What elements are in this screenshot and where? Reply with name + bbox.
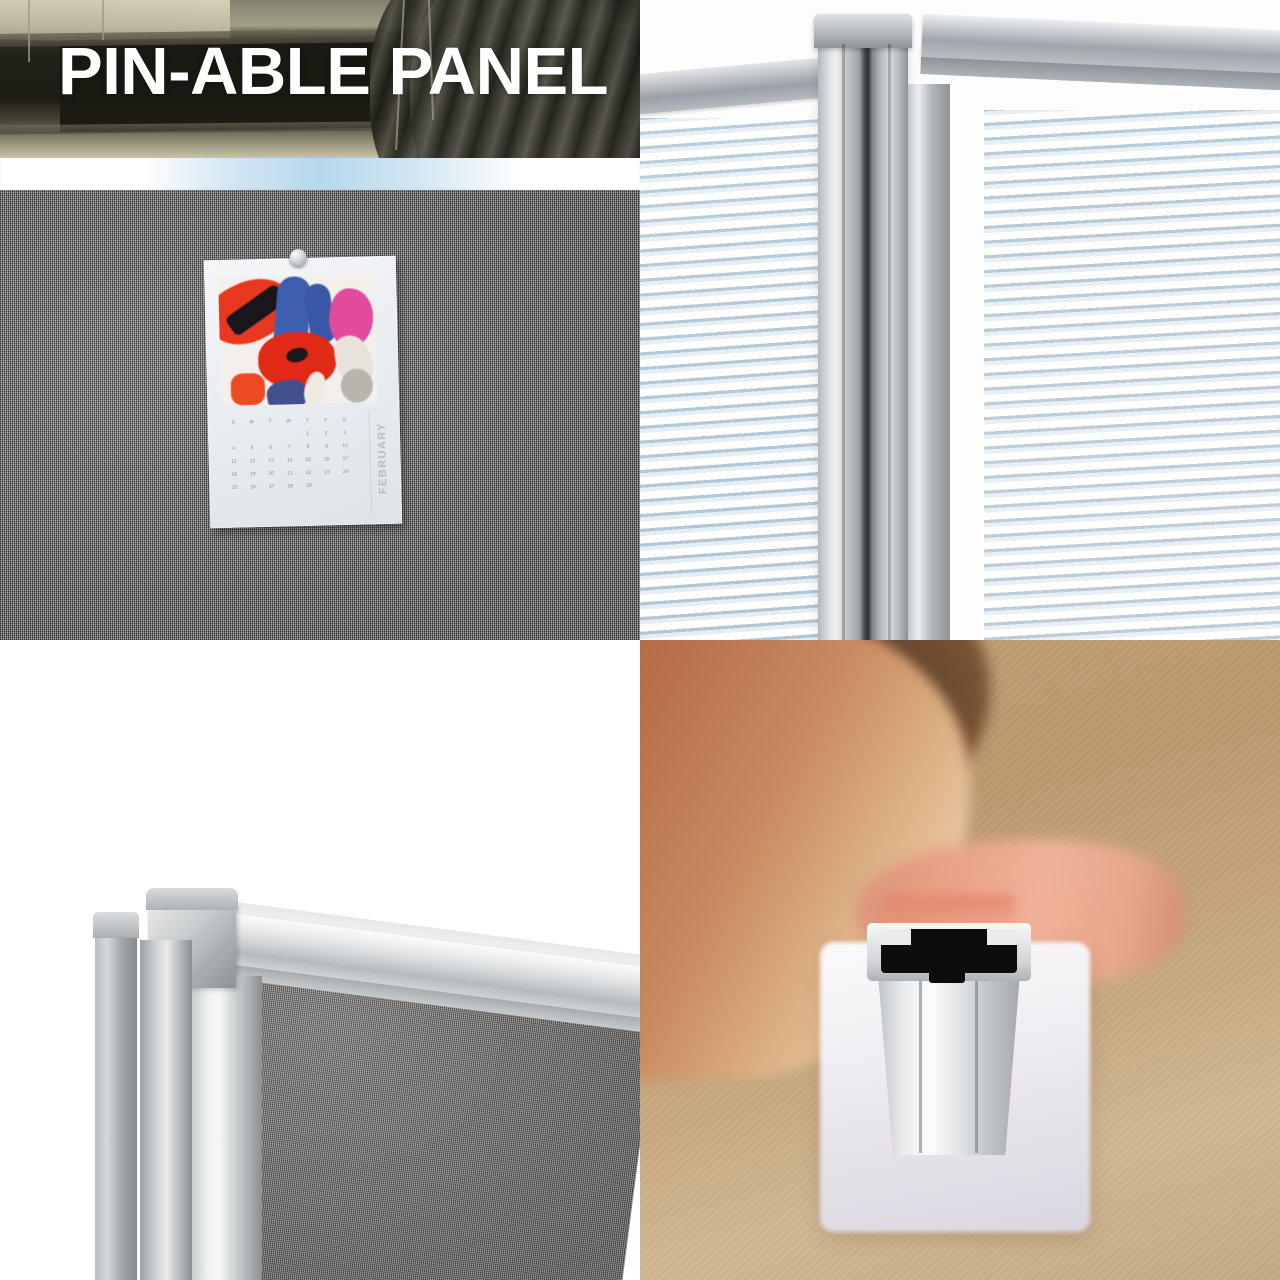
calendar-day: 10	[336, 439, 355, 452]
headline-pin-able-panel: PIN-ABLE PANEL	[58, 36, 638, 107]
calendar-day: 8	[298, 440, 317, 453]
calendar-day: 28	[281, 479, 300, 492]
calendar-day: 24	[336, 465, 355, 478]
calendar-day: 22	[299, 466, 318, 479]
frame-post-secondary	[908, 84, 950, 640]
frame-post-main	[192, 976, 262, 1280]
hanger-rod	[28, 0, 30, 62]
panel-pin-able-panel: SMTWTFS123456789101112131415161718192021…	[0, 0, 640, 640]
frame-post-middle	[140, 940, 192, 1280]
calendar-day	[261, 428, 280, 441]
calendar-day	[318, 478, 337, 491]
calendar-artwork	[218, 274, 377, 406]
calendar-day	[337, 478, 356, 491]
calendar-day: 16	[317, 452, 336, 465]
frame-post-outer	[95, 930, 137, 1280]
calendar-day: 25	[225, 480, 244, 493]
calendar-day: 15	[299, 453, 318, 466]
calendar-day: 5	[243, 441, 262, 454]
calendar-weekday: M	[242, 415, 261, 428]
calendar-weekday: S	[335, 413, 354, 426]
aluminum-post-blinds-photo	[640, 0, 1280, 640]
calendar-day: 1	[298, 427, 317, 440]
calendar-day: 14	[280, 453, 299, 466]
calendar-weekday: F	[316, 413, 335, 426]
window-blinds-right	[984, 110, 1280, 640]
calendar-weekday: S	[224, 415, 243, 428]
aluminum-connector-post	[818, 26, 908, 640]
toolless-assembly-photo	[640, 640, 1280, 1280]
feature-collage: SMTWTFS123456789101112131415161718192021…	[0, 0, 1280, 1280]
calendar-weekday: W	[279, 414, 298, 427]
post-cap	[814, 14, 912, 48]
panel-customizable-configuration: CUSTOMIZABLE CONFIGURATION	[640, 0, 1280, 640]
calendar-day: 29	[299, 479, 318, 492]
calendar-day: 21	[281, 466, 300, 479]
calendar-day: 26	[244, 480, 263, 493]
calendar-day: 7	[280, 440, 299, 453]
calendar-rule	[368, 410, 372, 514]
calendar-day: 18	[225, 467, 244, 480]
aluminum-extrusion-profile	[867, 915, 1031, 1155]
frame-fabric-insert	[219, 980, 640, 1280]
pinned-calendar: SMTWTFS123456789101112131415161718192021…	[204, 256, 402, 529]
calendar-day: 6	[261, 441, 280, 454]
calendar-day: 13	[262, 454, 281, 467]
calendar-day	[224, 428, 243, 441]
calendar-day: 3	[335, 426, 354, 439]
calendar-day: 11	[225, 454, 244, 467]
calendar-weekday: T	[298, 414, 317, 427]
panel-light-aircraft-aluminum-frame: LIGHT AIRCRAFT ALUMINUM FRAME	[0, 640, 640, 1280]
calendar-day: 23	[318, 465, 337, 478]
calendar-day: 17	[336, 452, 355, 465]
frame-rail-left	[640, 56, 842, 116]
calendar-day	[280, 427, 299, 440]
calendar-weekday: T	[261, 415, 280, 428]
calendar-day: 12	[243, 454, 262, 467]
calendar-day: 19	[243, 467, 262, 480]
calendar-day: 9	[317, 439, 336, 452]
calendar-day: 2	[317, 426, 336, 439]
calendar-day: 20	[262, 467, 281, 480]
frame-rail-right	[921, 14, 1280, 75]
calendar-day: 27	[262, 480, 281, 493]
panel-toolless-assembly: TOOLLESS ASSEMBLY	[640, 640, 1280, 1280]
calendar-month-label: FEBRUARY	[375, 406, 396, 510]
calendar-date-grid: SMTWTFS123456789101112131415161718192021…	[224, 413, 356, 504]
calendar-day	[242, 428, 261, 441]
aluminum-frame-corner-photo	[0, 640, 640, 1280]
push-pin-icon	[290, 249, 307, 266]
glass-light-band	[0, 158, 640, 192]
calendar-day: 4	[224, 441, 243, 454]
